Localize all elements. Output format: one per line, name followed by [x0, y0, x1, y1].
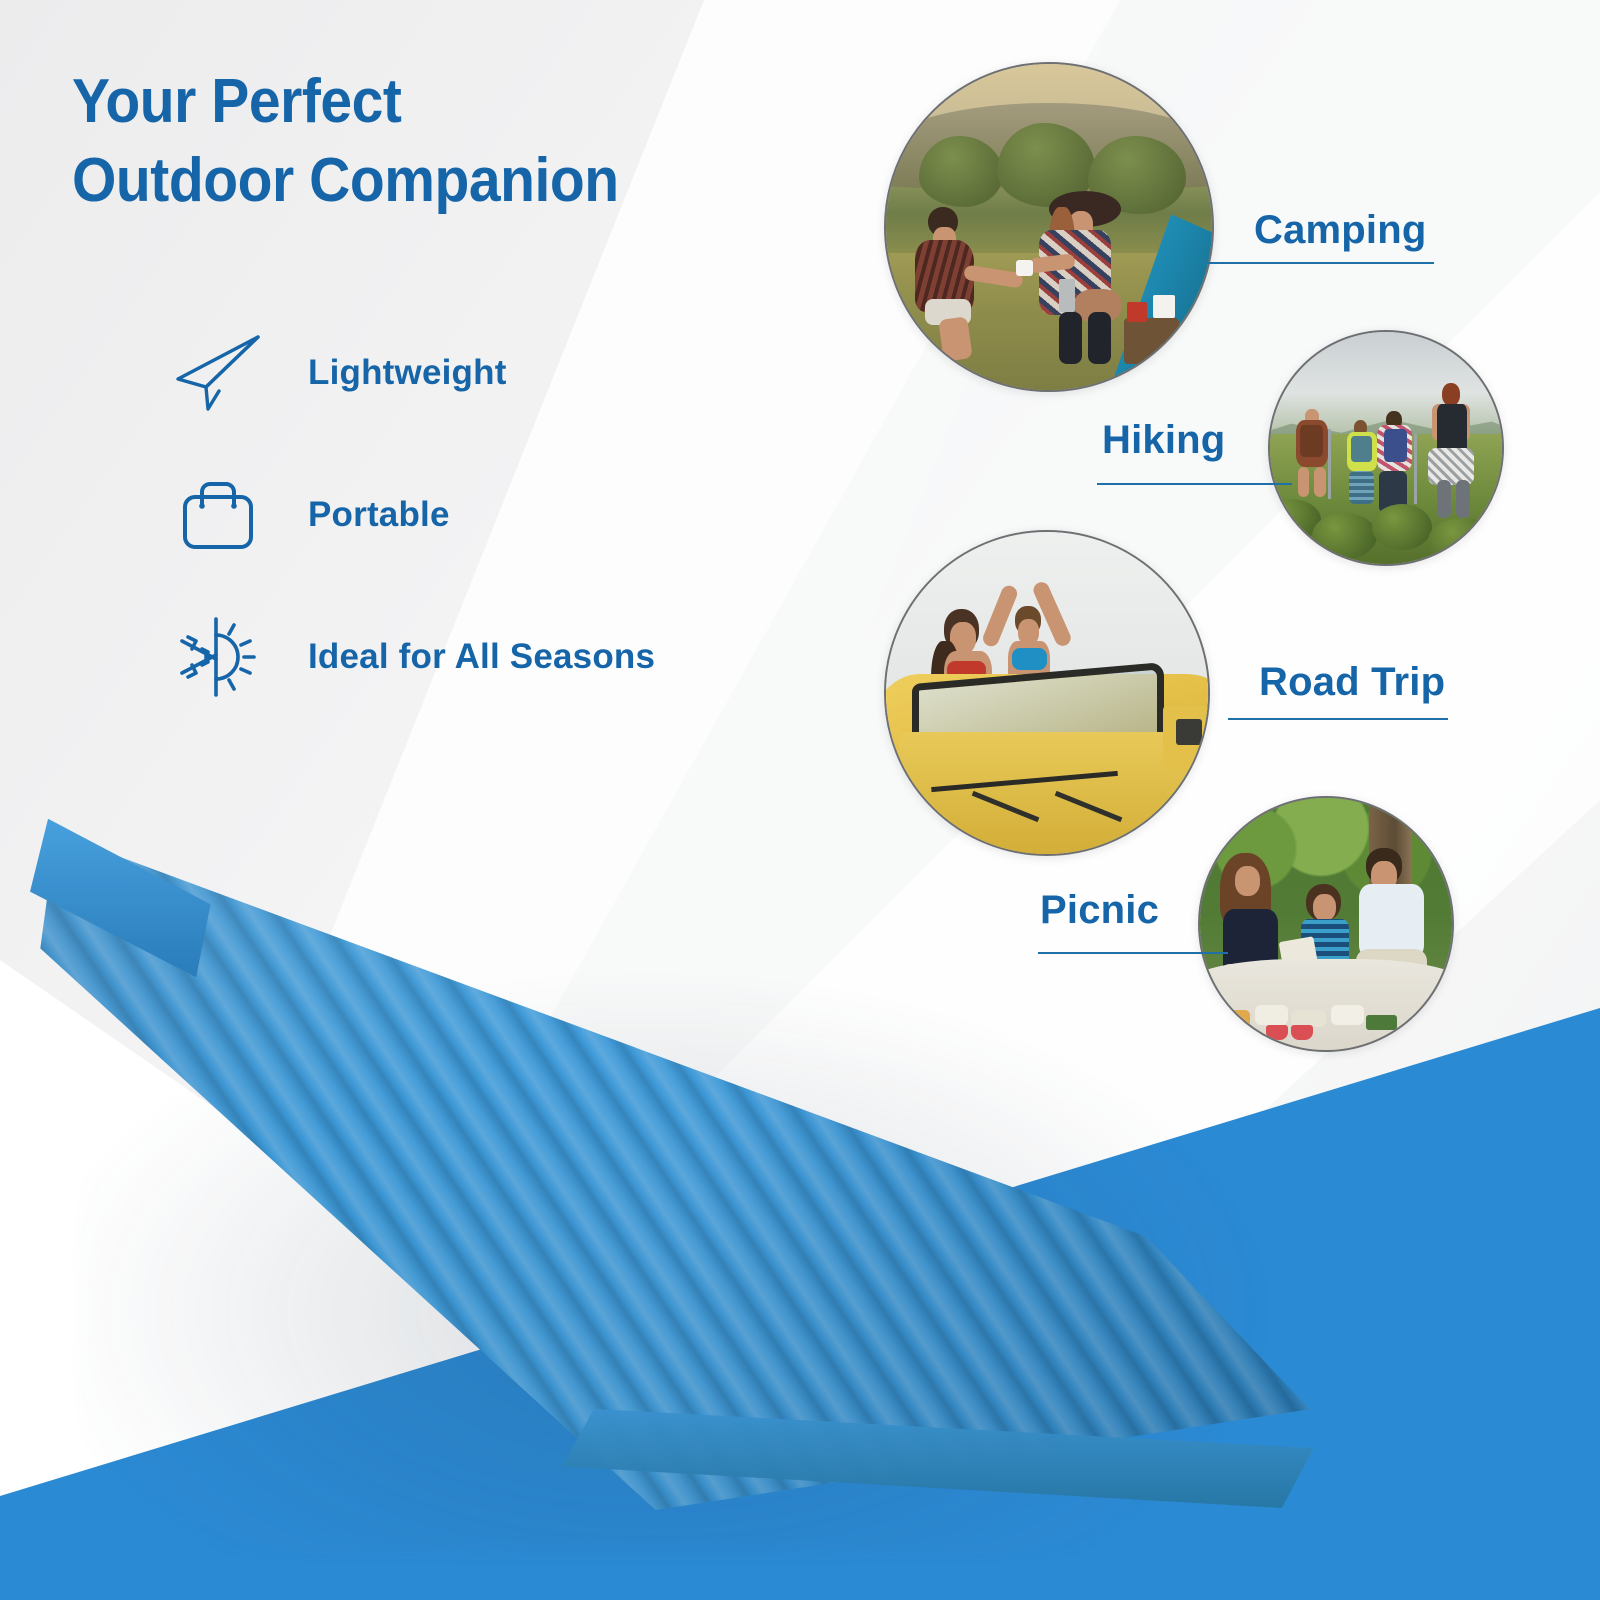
feature-item-portable: Portable: [170, 444, 790, 586]
product-image-sleeping-pad: [30, 790, 1320, 1510]
feature-list: Lightweight Portable: [170, 302, 790, 728]
paper-plane-icon: [170, 325, 266, 421]
headline-line-2: Outdoor Companion: [72, 141, 771, 220]
feature-item-lightweight: Lightweight: [170, 302, 790, 444]
camping-label: Camping: [1254, 208, 1427, 253]
hiking-connector-rule: [1097, 483, 1292, 485]
camping-scene: [886, 64, 1212, 390]
snowflake-sun-icon: [170, 609, 266, 705]
camping-photo: [884, 62, 1214, 392]
tote-bag-icon: [170, 467, 266, 563]
feature-label: Ideal for All Seasons: [308, 637, 655, 677]
page-title: Your Perfect Outdoor Companion: [72, 62, 771, 221]
hiking-scene: [1270, 332, 1502, 564]
feature-label: Portable: [308, 495, 450, 535]
road-trip-connector-rule: [1228, 718, 1448, 720]
hiking-photo: [1268, 330, 1504, 566]
feature-item-all-seasons: Ideal for All Seasons: [170, 586, 790, 728]
product-marketing-banner: Your Perfect Outdoor Companion Lightweig…: [0, 0, 1600, 1600]
camping-connector-rule: [1208, 262, 1434, 264]
road-trip-label: Road Trip: [1259, 660, 1445, 705]
hiking-label: Hiking: [1102, 418, 1225, 463]
headline-line-1: Your Perfect: [72, 67, 401, 136]
feature-label: Lightweight: [308, 353, 507, 393]
